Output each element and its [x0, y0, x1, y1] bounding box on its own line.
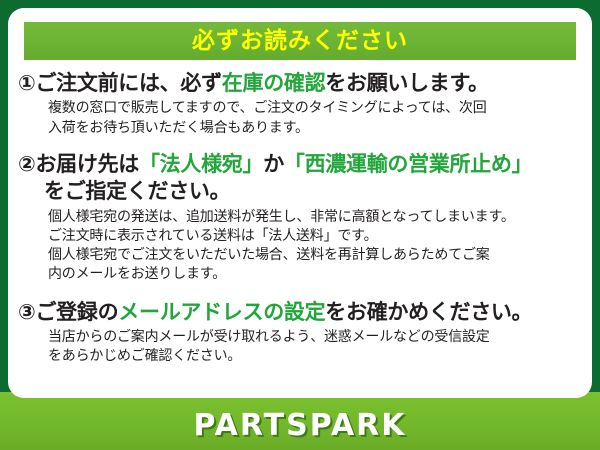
- notice-item-2: ②お届け先は「法人様宛」か「西濃運輸の営業所止め」 をご指定ください。 個人様宅…: [8, 151, 592, 285]
- notice-item-1-body-line: 入荷をお待ち頂いただく場合もあります。: [48, 119, 582, 138]
- notice-item-1-heading-part1: ご注文前には、必ず: [35, 71, 221, 95]
- notice-item-2-heading-middle: か: [263, 152, 284, 176]
- notice-item-2-heading-accent: 「法人様宛」: [139, 152, 263, 176]
- notice-item-3-body: 当店からのご案内メールが受け取れるよう、迷惑メールなどの受信設定 をあらかじめご…: [18, 328, 582, 367]
- notice-item-1-body: 複数の窓口で販売してますので、ご注文のタイミングによっては、次回 入荷をお待ち頂…: [18, 99, 582, 138]
- notice-item-3-marker: ③: [18, 300, 35, 324]
- banner: 必ずお読みください: [24, 22, 576, 60]
- brand-logo-text: PARTSPARK: [0, 411, 600, 441]
- notice-item-2-body-line: 内のメールをお送りします。: [48, 265, 582, 284]
- notice-item-2-heading: ②お届け先は「法人様宛」か「西濃運輸の営業所止め」: [18, 151, 582, 178]
- notice-item-2-body-line: 個人様宅宛の発送は、追加送料が発生し、非常に高額となってしまいます。: [48, 208, 582, 227]
- notice-item-3: ③ご登録のメールアドレスの設定をお確かめください。 当店からのご案内メールが受け…: [8, 299, 592, 367]
- notice-item-1: ①ご注文前には、必ず在庫の確認をお願いします。 複数の窓口で販売してますので、ご…: [8, 70, 592, 138]
- notice-item-2-heading-accent-2: 「西濃運輸の営業所止め」: [284, 152, 532, 176]
- notice-item-3-heading-part2: をお確かめください。: [325, 300, 532, 324]
- notice-item-1-heading-part2: をお願いします。: [325, 71, 489, 95]
- notice-item-2-body: 個人様宅宛の発送は、追加送料が発生し、非常に高額となってしまいます。 ご注文時に…: [18, 208, 582, 285]
- notice-item-2-marker: ②: [18, 152, 35, 176]
- notice-item-2-heading-line2: をご指定ください。: [18, 178, 582, 205]
- notice-item-1-heading: ①ご注文前には、必ず在庫の確認をお願いします。: [18, 70, 582, 97]
- notice-item-3-heading: ③ご登録のメールアドレスの設定をお確かめください。: [18, 299, 582, 326]
- notice-item-3-heading-accent: メールアドレスの設定: [118, 300, 325, 324]
- notice-item-3-body-line: をあらかじめご確認ください。: [48, 347, 582, 366]
- notice-item-1-body-line: 複数の窓口で販売してますので、ご注文のタイミングによっては、次回: [48, 99, 582, 118]
- notice-item-3-body-line: 当店からのご案内メールが受け取れるよう、迷惑メールなどの受信設定: [48, 328, 582, 347]
- notice-item-2-heading-part1: お届け先は: [35, 152, 139, 176]
- notice-frame: 必ずお読みください ①ご注文前には、必ず在庫の確認をお願いします。 複数の窓口で…: [0, 0, 600, 450]
- notice-card: 必ずお読みください ①ご注文前には、必ず在庫の確認をお願いします。 複数の窓口で…: [8, 8, 592, 398]
- banner-title: 必ずお読みください: [192, 30, 408, 53]
- notice-item-3-heading-part1: ご登録の: [35, 300, 118, 324]
- notice-item-1-marker: ①: [18, 71, 35, 95]
- notice-item-1-heading-accent: 在庫の確認: [222, 71, 326, 95]
- notice-items-list: ①ご注文前には、必ず在庫の確認をお願いします。 複数の窓口で販売してますので、ご…: [8, 70, 592, 367]
- notice-item-2-body-line: 個人様宅宛でご注文をいただいた場合、送料を再計算しあらためてご案: [48, 246, 582, 265]
- notice-item-2-body-line: ご注文時に表示されている送料は「法人送料」です。: [48, 227, 582, 246]
